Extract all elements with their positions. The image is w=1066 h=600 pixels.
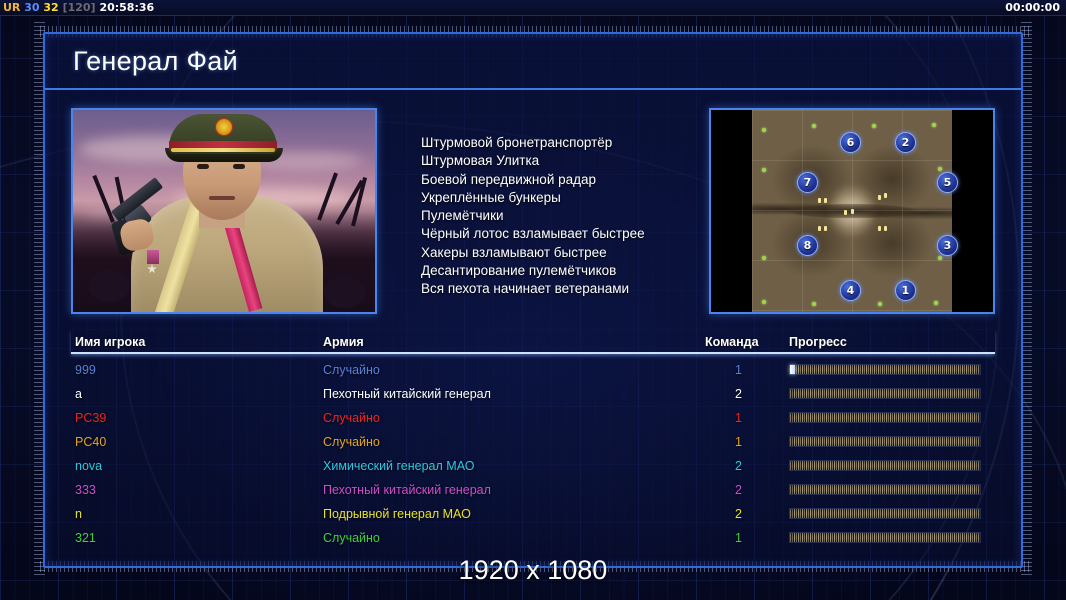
progress-fill bbox=[790, 365, 980, 374]
status-bar-left: UR 30 32 [120] 20:58:36 bbox=[3, 0, 154, 16]
map-resource-dot bbox=[812, 124, 816, 128]
player-army: Случайно bbox=[323, 411, 380, 425]
player-progress-bar bbox=[789, 460, 981, 471]
player-name: PC39 bbox=[75, 411, 106, 425]
table-header-row: Имя игрока Армия Команда Прогресс bbox=[71, 330, 995, 354]
player-progress-bar bbox=[789, 508, 981, 519]
player-progress-bar bbox=[789, 364, 981, 375]
table-row[interactable]: novaХимический генерал МАО2 bbox=[71, 454, 995, 478]
table-row[interactable]: 321Случайно1 bbox=[71, 526, 995, 550]
map-start-position-8[interactable]: 8 bbox=[797, 235, 818, 256]
map-resource-dot bbox=[938, 256, 942, 260]
ability-item: Чёрный лотос взламывает быстрее bbox=[421, 225, 709, 243]
map-supply-mark bbox=[818, 198, 821, 203]
player-army: Случайно bbox=[323, 363, 380, 377]
player-army: Случайно bbox=[323, 531, 380, 545]
page-title: Генерал Фай bbox=[73, 46, 238, 77]
status-bar: UR 30 32 [120] 20:58:36 00:00:00 bbox=[0, 0, 1066, 16]
progress-track bbox=[789, 460, 981, 471]
map-start-position-label: 7 bbox=[804, 176, 812, 189]
ability-item: Боевой передвижной радар bbox=[421, 171, 709, 189]
table-row[interactable]: PC39Случайно1 bbox=[71, 406, 995, 430]
status-clock-right: 00:00:00 bbox=[1005, 0, 1060, 16]
player-team: 1 bbox=[735, 531, 742, 545]
progress-fill bbox=[790, 485, 980, 494]
map-preview-image: 62758341 bbox=[752, 110, 952, 312]
map-resource-dot bbox=[932, 123, 936, 127]
general-abilities-list: Штурмовой бронетранспортёрШтурмовая Улит… bbox=[377, 108, 709, 299]
map-start-position-label: 8 bbox=[804, 239, 812, 252]
status-value-1: 30 bbox=[24, 1, 39, 14]
ability-item: Штурмовой бронетранспортёр bbox=[421, 134, 709, 152]
map-start-position-2[interactable]: 2 bbox=[895, 132, 916, 153]
progress-track bbox=[789, 412, 981, 423]
map-resource-dot bbox=[878, 302, 882, 306]
progress-track bbox=[789, 364, 981, 375]
progress-fill bbox=[790, 533, 980, 542]
status-bracket-value: [120] bbox=[63, 1, 96, 14]
map-supply-mark bbox=[884, 193, 887, 198]
ability-item: Штурмовая Улитка bbox=[421, 152, 709, 170]
player-team: 1 bbox=[735, 363, 742, 377]
player-team: 1 bbox=[735, 411, 742, 425]
table-body: 999Случайно1aПехотный китайский генерал2… bbox=[71, 358, 995, 550]
map-supply-mark bbox=[844, 210, 847, 215]
map-supply-mark bbox=[878, 226, 881, 231]
map-start-position-1[interactable]: 1 bbox=[895, 280, 916, 301]
ability-item: Хакеры взламывают быстрее bbox=[421, 244, 709, 262]
progress-fill bbox=[790, 389, 980, 398]
progress-fill bbox=[790, 461, 980, 470]
ability-item: Десантирование пулемётчиков bbox=[421, 262, 709, 280]
player-team: 2 bbox=[735, 387, 742, 401]
game-lobby-screen: UR 30 32 [120] 20:58:36 00:00:00 Генерал… bbox=[0, 0, 1066, 600]
map-start-position-7[interactable]: 7 bbox=[797, 172, 818, 193]
player-army: Пехотный китайский генерал bbox=[323, 387, 491, 401]
map-resource-dot bbox=[872, 124, 876, 128]
map-start-position-label: 2 bbox=[902, 136, 910, 149]
map-start-position-label: 1 bbox=[902, 284, 910, 297]
player-team: 2 bbox=[735, 459, 742, 473]
player-name: PC40 bbox=[75, 435, 106, 449]
status-value-2: 32 bbox=[43, 1, 58, 14]
table-row[interactable]: 333Пехотный китайский генерал2 bbox=[71, 478, 995, 502]
player-team: 2 bbox=[735, 507, 742, 521]
progress-fill bbox=[790, 437, 980, 446]
map-supply-mark bbox=[851, 209, 854, 214]
column-header-progress: Прогресс bbox=[789, 335, 847, 349]
map-supply-mark bbox=[824, 198, 827, 203]
panel-title-bar: Генерал Фай bbox=[45, 34, 1021, 90]
map-start-position-4[interactable]: 4 bbox=[840, 280, 861, 301]
general-portrait-frame bbox=[71, 108, 377, 314]
table-row[interactable]: 999Случайно1 bbox=[71, 358, 995, 382]
table-row[interactable]: PC40Случайно1 bbox=[71, 430, 995, 454]
player-name: n bbox=[75, 507, 82, 521]
player-progress-bar bbox=[789, 532, 981, 543]
map-supply-mark bbox=[884, 226, 887, 231]
map-supply-mark bbox=[878, 195, 881, 200]
map-start-position-label: 6 bbox=[847, 136, 855, 149]
resolution-overlay: 1920 x 1080 bbox=[0, 555, 1066, 586]
map-supply-mark bbox=[818, 226, 821, 231]
map-resource-dot bbox=[934, 301, 938, 305]
column-header-name: Имя игрока bbox=[75, 335, 145, 349]
column-header-army: Армия bbox=[323, 335, 364, 349]
map-supply-mark bbox=[824, 226, 827, 231]
ability-item: Укреплённые бункеры bbox=[421, 189, 709, 207]
player-list-table: Имя игрока Армия Команда Прогресс 999Слу… bbox=[71, 330, 995, 556]
progress-fill bbox=[790, 413, 980, 422]
player-army: Химический генерал МАО bbox=[323, 459, 474, 473]
map-resource-dot bbox=[762, 168, 766, 172]
player-name: 333 bbox=[75, 483, 96, 497]
table-row[interactable]: nПодрывной генерал МАО2 bbox=[71, 502, 995, 526]
progress-track bbox=[789, 436, 981, 447]
general-portrait-image bbox=[73, 110, 375, 312]
progress-track bbox=[789, 484, 981, 495]
map-start-position-3[interactable]: 3 bbox=[937, 235, 958, 256]
player-army: Пехотный китайский генерал bbox=[323, 483, 491, 497]
general-info-panel: Генерал Фай bbox=[43, 32, 1023, 568]
map-start-position-label: 5 bbox=[944, 176, 952, 189]
map-start-position-label: 3 bbox=[944, 239, 952, 252]
status-clock-left: 20:58:36 bbox=[99, 1, 154, 14]
table-row[interactable]: aПехотный китайский генерал2 bbox=[71, 382, 995, 406]
player-team: 2 bbox=[735, 483, 742, 497]
map-resource-dot bbox=[762, 256, 766, 260]
map-resource-dot bbox=[762, 300, 766, 304]
progress-track bbox=[789, 508, 981, 519]
player-name: 999 bbox=[75, 363, 96, 377]
player-name: 321 bbox=[75, 531, 96, 545]
player-name: a bbox=[75, 387, 82, 401]
map-resource-dot bbox=[938, 167, 942, 171]
progress-track bbox=[789, 388, 981, 399]
progress-fill bbox=[790, 509, 980, 518]
status-label: UR bbox=[3, 1, 20, 14]
ability-item: Вся пехота начинает ветеранами bbox=[421, 280, 709, 298]
map-resource-dot bbox=[762, 128, 766, 132]
player-progress-bar bbox=[789, 388, 981, 399]
map-start-position-5[interactable]: 5 bbox=[937, 172, 958, 193]
player-team: 1 bbox=[735, 435, 742, 449]
progress-head-marker bbox=[790, 365, 795, 374]
player-progress-bar bbox=[789, 412, 981, 423]
map-preview-frame[interactable]: 62758341 bbox=[709, 108, 995, 314]
player-progress-bar bbox=[789, 484, 981, 495]
map-start-position-6[interactable]: 6 bbox=[840, 132, 861, 153]
general-content-row: Штурмовой бронетранспортёрШтурмовая Улит… bbox=[71, 108, 995, 320]
ability-item: Пулемётчики bbox=[421, 207, 709, 225]
map-resource-dot bbox=[812, 302, 816, 306]
progress-track bbox=[789, 532, 981, 543]
player-progress-bar bbox=[789, 436, 981, 447]
player-name: nova bbox=[75, 459, 102, 473]
player-army: Подрывной генерал МАО bbox=[323, 507, 471, 521]
player-army: Случайно bbox=[323, 435, 380, 449]
map-start-position-label: 4 bbox=[847, 284, 855, 297]
column-header-team: Команда bbox=[705, 335, 759, 349]
